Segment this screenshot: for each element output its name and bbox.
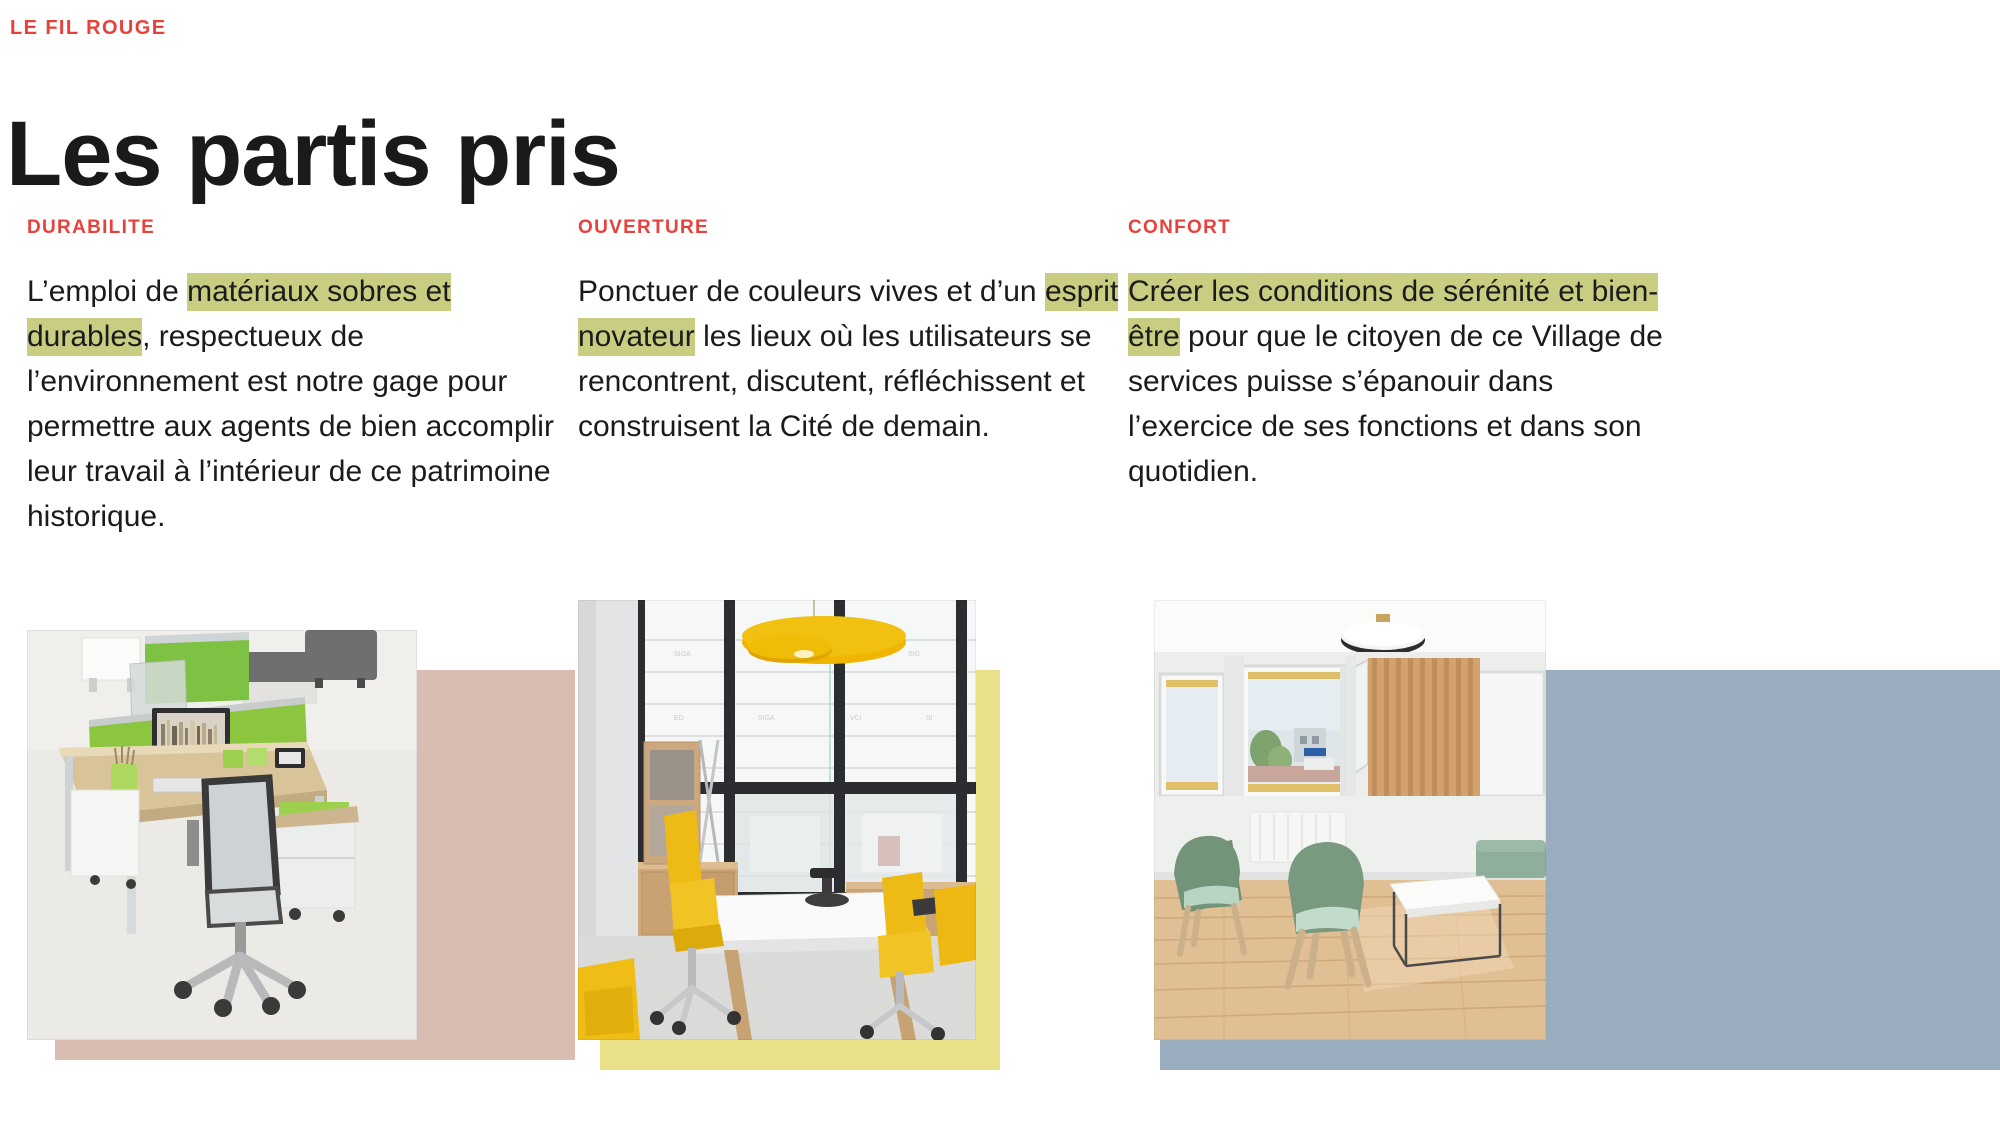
svg-text:ED: ED [674, 715, 684, 722]
column-body-ouverture: Ponctuer de couleurs vives et d’un espri… [578, 269, 1131, 449]
svg-text:SIG: SIG [908, 651, 920, 658]
column-label-ouverture: OUVERTURE [578, 218, 1131, 237]
photo-block-confort [1128, 600, 2000, 1133]
body-text-run: L’emploi de [27, 275, 187, 308]
page-title: Les partis pris [6, 106, 620, 203]
eyebrow-label: LE FIL ROUGE [10, 18, 166, 38]
body-text-run: Ponctuer de couleurs vives et d’un [578, 275, 1045, 308]
svg-text:VCI: VCI [850, 715, 862, 722]
body-text-run: pour que le citoyen de ce Village de ser… [1128, 320, 1663, 488]
photo-block-durabilite [0, 600, 600, 1133]
column-body-durabilite: L’emploi de matériaux sobres et durables… [27, 269, 580, 539]
column-confort: CONFORT Créer les conditions de sérénité… [1128, 218, 1681, 494]
svg-text:SI: SI [926, 715, 933, 722]
column-label-durabilite: DURABILITE [27, 218, 580, 237]
open-plan-office-desk-photo [27, 630, 417, 1040]
column-body-confort: Créer les conditions de sérénité et bien… [1128, 269, 1681, 494]
column-durabilite: DURABILITE L’emploi de matériaux sobres … [27, 218, 580, 539]
column-ouverture: OUVERTURE Ponctuer de couleurs vives et … [578, 218, 1131, 449]
photo-block-ouverture: SIGAVCI SIGASIG EDSIGA VCISI SIGAVCI SIG… [550, 600, 1170, 1133]
lounge-green-armchairs-photo [1154, 600, 1546, 1040]
slide-root: LE FIL ROUGE Les partis pris DURABILITE … [0, 0, 2000, 1133]
svg-text:SIGA: SIGA [674, 651, 691, 658]
column-label-confort: CONFORT [1128, 218, 1681, 237]
svg-text:SIGA: SIGA [758, 715, 775, 722]
meeting-room-yellow-chairs-photo: SIGAVCI SIGASIG EDSIGA VCISI SIGAVCI SIG… [578, 600, 976, 1040]
